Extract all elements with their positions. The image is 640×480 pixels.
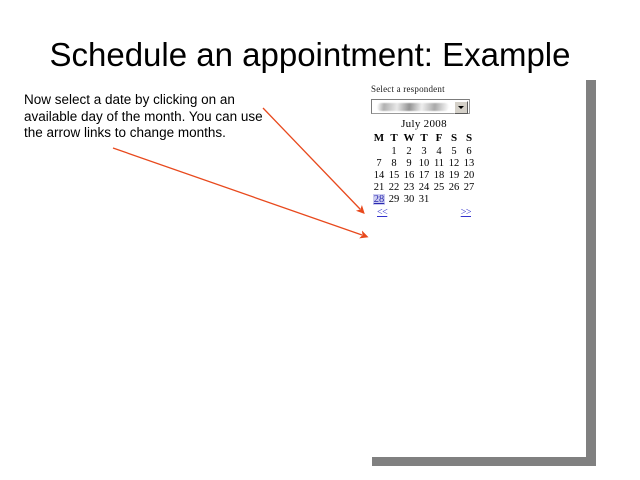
instruction-text: Now select a date by clicking on an avai…: [24, 92, 269, 142]
calendar-day[interactable]: 13: [462, 157, 477, 169]
calendar-grid: M T W T F S S 1 2 3 4: [372, 132, 477, 205]
calendar-day[interactable]: 15: [387, 169, 402, 181]
calendar-day[interactable]: 31: [417, 193, 432, 205]
respondent-label: Select a respondent: [371, 84, 482, 94]
weekday-header: T: [387, 132, 402, 145]
calendar-nav: << >>: [376, 207, 472, 220]
calendar-day[interactable]: 5: [447, 145, 462, 157]
slide-canvas: Schedule an appointment: Example Now sel…: [0, 0, 640, 480]
calendar-day[interactable]: 3: [417, 145, 432, 157]
calendar-day: [462, 193, 477, 205]
slide-frame-shadow-right: [586, 80, 596, 458]
calendar-day: [372, 145, 387, 157]
calendar-day[interactable]: 6: [462, 145, 477, 157]
calendar-day[interactable]: 27: [462, 181, 477, 193]
weekday-header: F: [432, 132, 447, 145]
weekday-header: M: [372, 132, 387, 145]
slide-frame-shadow-bottom: [372, 457, 596, 466]
weekday-header: W: [402, 132, 417, 145]
weekday-header: T: [417, 132, 432, 145]
calendar-month-label: July 2008: [366, 117, 482, 132]
redacted-value-overlay: [377, 103, 449, 111]
calendar-day[interactable]: 26: [447, 181, 462, 193]
chevron-down-icon[interactable]: [454, 101, 468, 114]
calendar-day[interactable]: 23: [402, 181, 417, 193]
calendar-day[interactable]: 24: [417, 181, 432, 193]
weekday-header: S: [447, 132, 462, 145]
calendar-day[interactable]: 11: [432, 157, 447, 169]
calendar-day-selected[interactable]: 28: [372, 193, 387, 205]
calendar-day[interactable]: 1: [387, 145, 402, 157]
calendar-week-row: 21 22 23 24 25 26 27: [372, 181, 477, 193]
arrow-to-calendar-days: [263, 108, 360, 209]
date-picker-calendar: July 2008 M T W T F S S: [366, 117, 482, 220]
calendar-day[interactable]: 20: [462, 169, 477, 181]
calendar-day[interactable]: 29: [387, 193, 402, 205]
calendar-day[interactable]: 12: [447, 157, 462, 169]
calendar-day: [432, 193, 447, 205]
page-title: Schedule an appointment: Example: [0, 36, 620, 74]
calendar-day[interactable]: 22: [387, 181, 402, 193]
calendar-day[interactable]: 25: [432, 181, 447, 193]
calendar-day[interactable]: 14: [372, 169, 387, 181]
weekday-header: S: [462, 132, 477, 145]
calendar-day[interactable]: 30: [402, 193, 417, 205]
calendar-day[interactable]: 9: [402, 157, 417, 169]
calendar-week-row: 14 15 16 17 18 19 20: [372, 169, 477, 181]
calendar-day[interactable]: 17: [417, 169, 432, 181]
calendar-day[interactable]: 18: [432, 169, 447, 181]
appointment-form-screenshot: Select a respondent July 2008 M T W T F …: [366, 84, 482, 220]
calendar-week-row: 7 8 9 10 11 12 13: [372, 157, 477, 169]
calendar-week-row: 1 2 3 4 5 6: [372, 145, 477, 157]
calendar-day[interactable]: 19: [447, 169, 462, 181]
calendar-weekday-row: M T W T F S S: [372, 132, 477, 145]
calendar-week-row: 28 29 30 31: [372, 193, 477, 205]
prev-month-link[interactable]: <<: [377, 207, 387, 218]
arrow-to-month-nav-links: [113, 148, 362, 235]
calendar-day[interactable]: 21: [372, 181, 387, 193]
calendar-day[interactable]: 8: [387, 157, 402, 169]
calendar-day: [447, 193, 462, 205]
respondent-select[interactable]: [371, 99, 470, 114]
next-month-link[interactable]: >>: [461, 207, 471, 218]
calendar-day[interactable]: 7: [372, 157, 387, 169]
calendar-day[interactable]: 4: [432, 145, 447, 157]
calendar-day[interactable]: 10: [417, 157, 432, 169]
calendar-day[interactable]: 16: [402, 169, 417, 181]
calendar-day-selected-label: 28: [373, 194, 386, 205]
calendar-day[interactable]: 2: [402, 145, 417, 157]
